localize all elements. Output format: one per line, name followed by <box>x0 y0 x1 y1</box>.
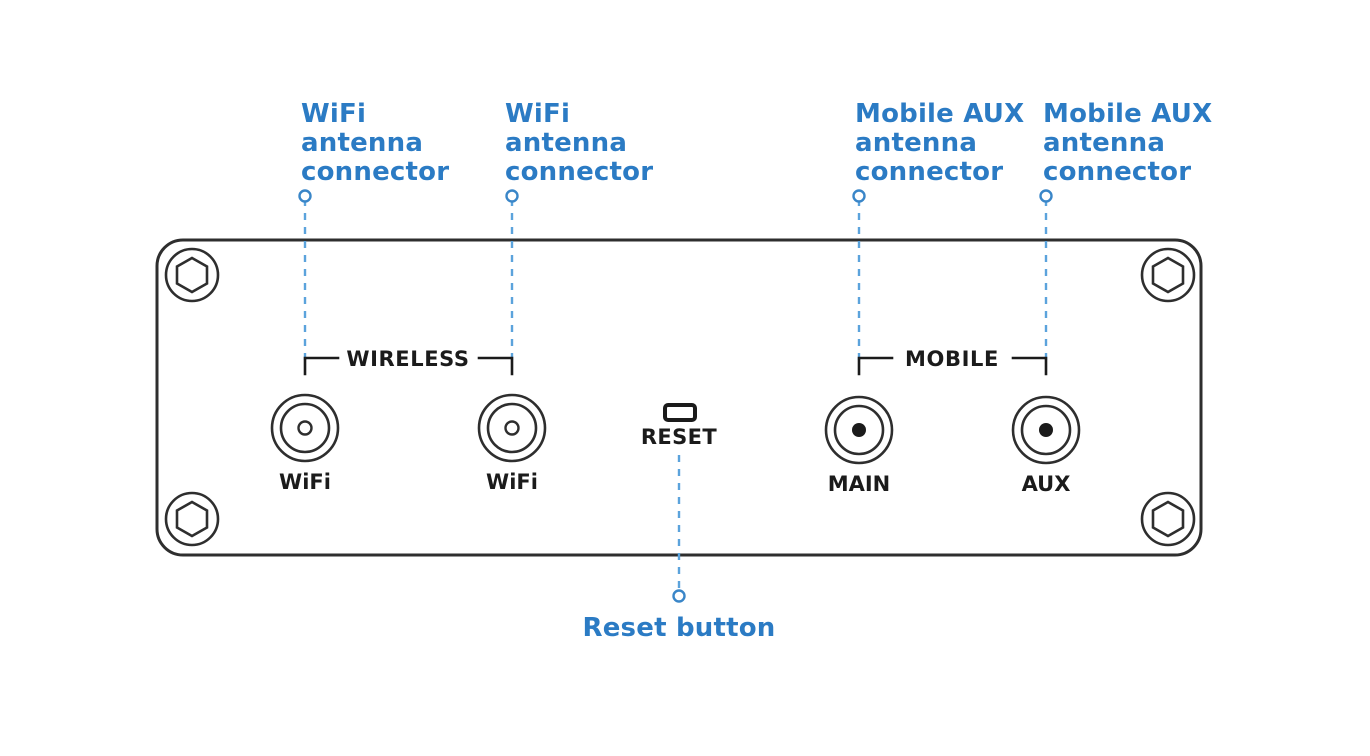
callout-mobile-main-line2: antenna <box>855 128 977 158</box>
port-wifi-2-label: WiFi <box>486 470 538 494</box>
port-wifi-1-label: WiFi <box>279 470 331 494</box>
callout-wifi-right-line2: antenna <box>505 128 627 158</box>
callout-reset: Reset button <box>583 613 776 643</box>
port-wifi-1[interactable]: WiFi <box>272 395 338 494</box>
leader-endpoint-mobile-main <box>854 191 865 202</box>
callout-wifi-left: WiFi antenna connector <box>301 99 449 187</box>
port-main[interactable]: MAIN <box>826 397 892 496</box>
port-wifi-2[interactable]: WiFi <box>479 395 545 494</box>
leader-endpoint-wifi-right <box>507 191 518 202</box>
port-wifi-1-center-pin <box>299 422 312 435</box>
leader-endpoint-mobile-aux <box>1041 191 1052 202</box>
group-label-mobile: MOBILE <box>905 347 999 371</box>
callout-reset-label: Reset button <box>583 613 776 643</box>
callout-mobile-main-line3: connector <box>855 157 1003 187</box>
callout-mobile-main: Mobile AUX antenna connector <box>855 99 1024 187</box>
corner-screw-top-left <box>166 249 218 301</box>
callout-mobile-main-line1: Mobile AUX <box>855 99 1024 129</box>
callout-mobile-aux: Mobile AUX antenna connector <box>1043 99 1212 187</box>
reset-button[interactable]: RESET <box>641 405 718 449</box>
reset-button-opening <box>665 405 695 420</box>
corner-screw-top-right <box>1142 249 1194 301</box>
corner-screw-bottom-right <box>1142 493 1194 545</box>
callout-wifi-left-line2: antenna <box>301 128 423 158</box>
callout-wifi-left-line3: connector <box>301 157 449 187</box>
callout-mobile-aux-line1: Mobile AUX <box>1043 99 1212 129</box>
callout-mobile-aux-line3: connector <box>1043 157 1191 187</box>
port-main-label: MAIN <box>828 472 891 496</box>
leader-endpoint-reset <box>674 591 685 602</box>
port-main-center-pin <box>852 423 866 437</box>
panel-diagram-canvas: WIRELESS MOBILE WiFi WiFi RESET <box>0 0 1370 756</box>
callout-wifi-left-line1: WiFi <box>301 99 366 129</box>
callout-wifi-right-line3: connector <box>505 157 653 187</box>
group-bracket-wireless: WIRELESS <box>305 347 512 374</box>
corner-screw-bottom-left <box>166 493 218 545</box>
leader-endpoint-wifi-left <box>300 191 311 202</box>
leader-lines <box>300 191 1052 602</box>
port-aux[interactable]: AUX <box>1013 397 1079 496</box>
callout-wifi-right: WiFi antenna connector <box>505 99 653 187</box>
port-aux-center-pin <box>1039 423 1053 437</box>
reset-button-label: RESET <box>641 425 718 449</box>
group-label-wireless: WIRELESS <box>346 347 469 371</box>
callout-wifi-right-line1: WiFi <box>505 99 570 129</box>
group-bracket-mobile: MOBILE <box>859 347 1046 374</box>
port-wifi-2-center-pin <box>506 422 519 435</box>
callout-mobile-aux-line2: antenna <box>1043 128 1165 158</box>
panel-diagram: WIRELESS MOBILE WiFi WiFi RESET <box>0 0 1370 756</box>
port-aux-label: AUX <box>1022 472 1071 496</box>
